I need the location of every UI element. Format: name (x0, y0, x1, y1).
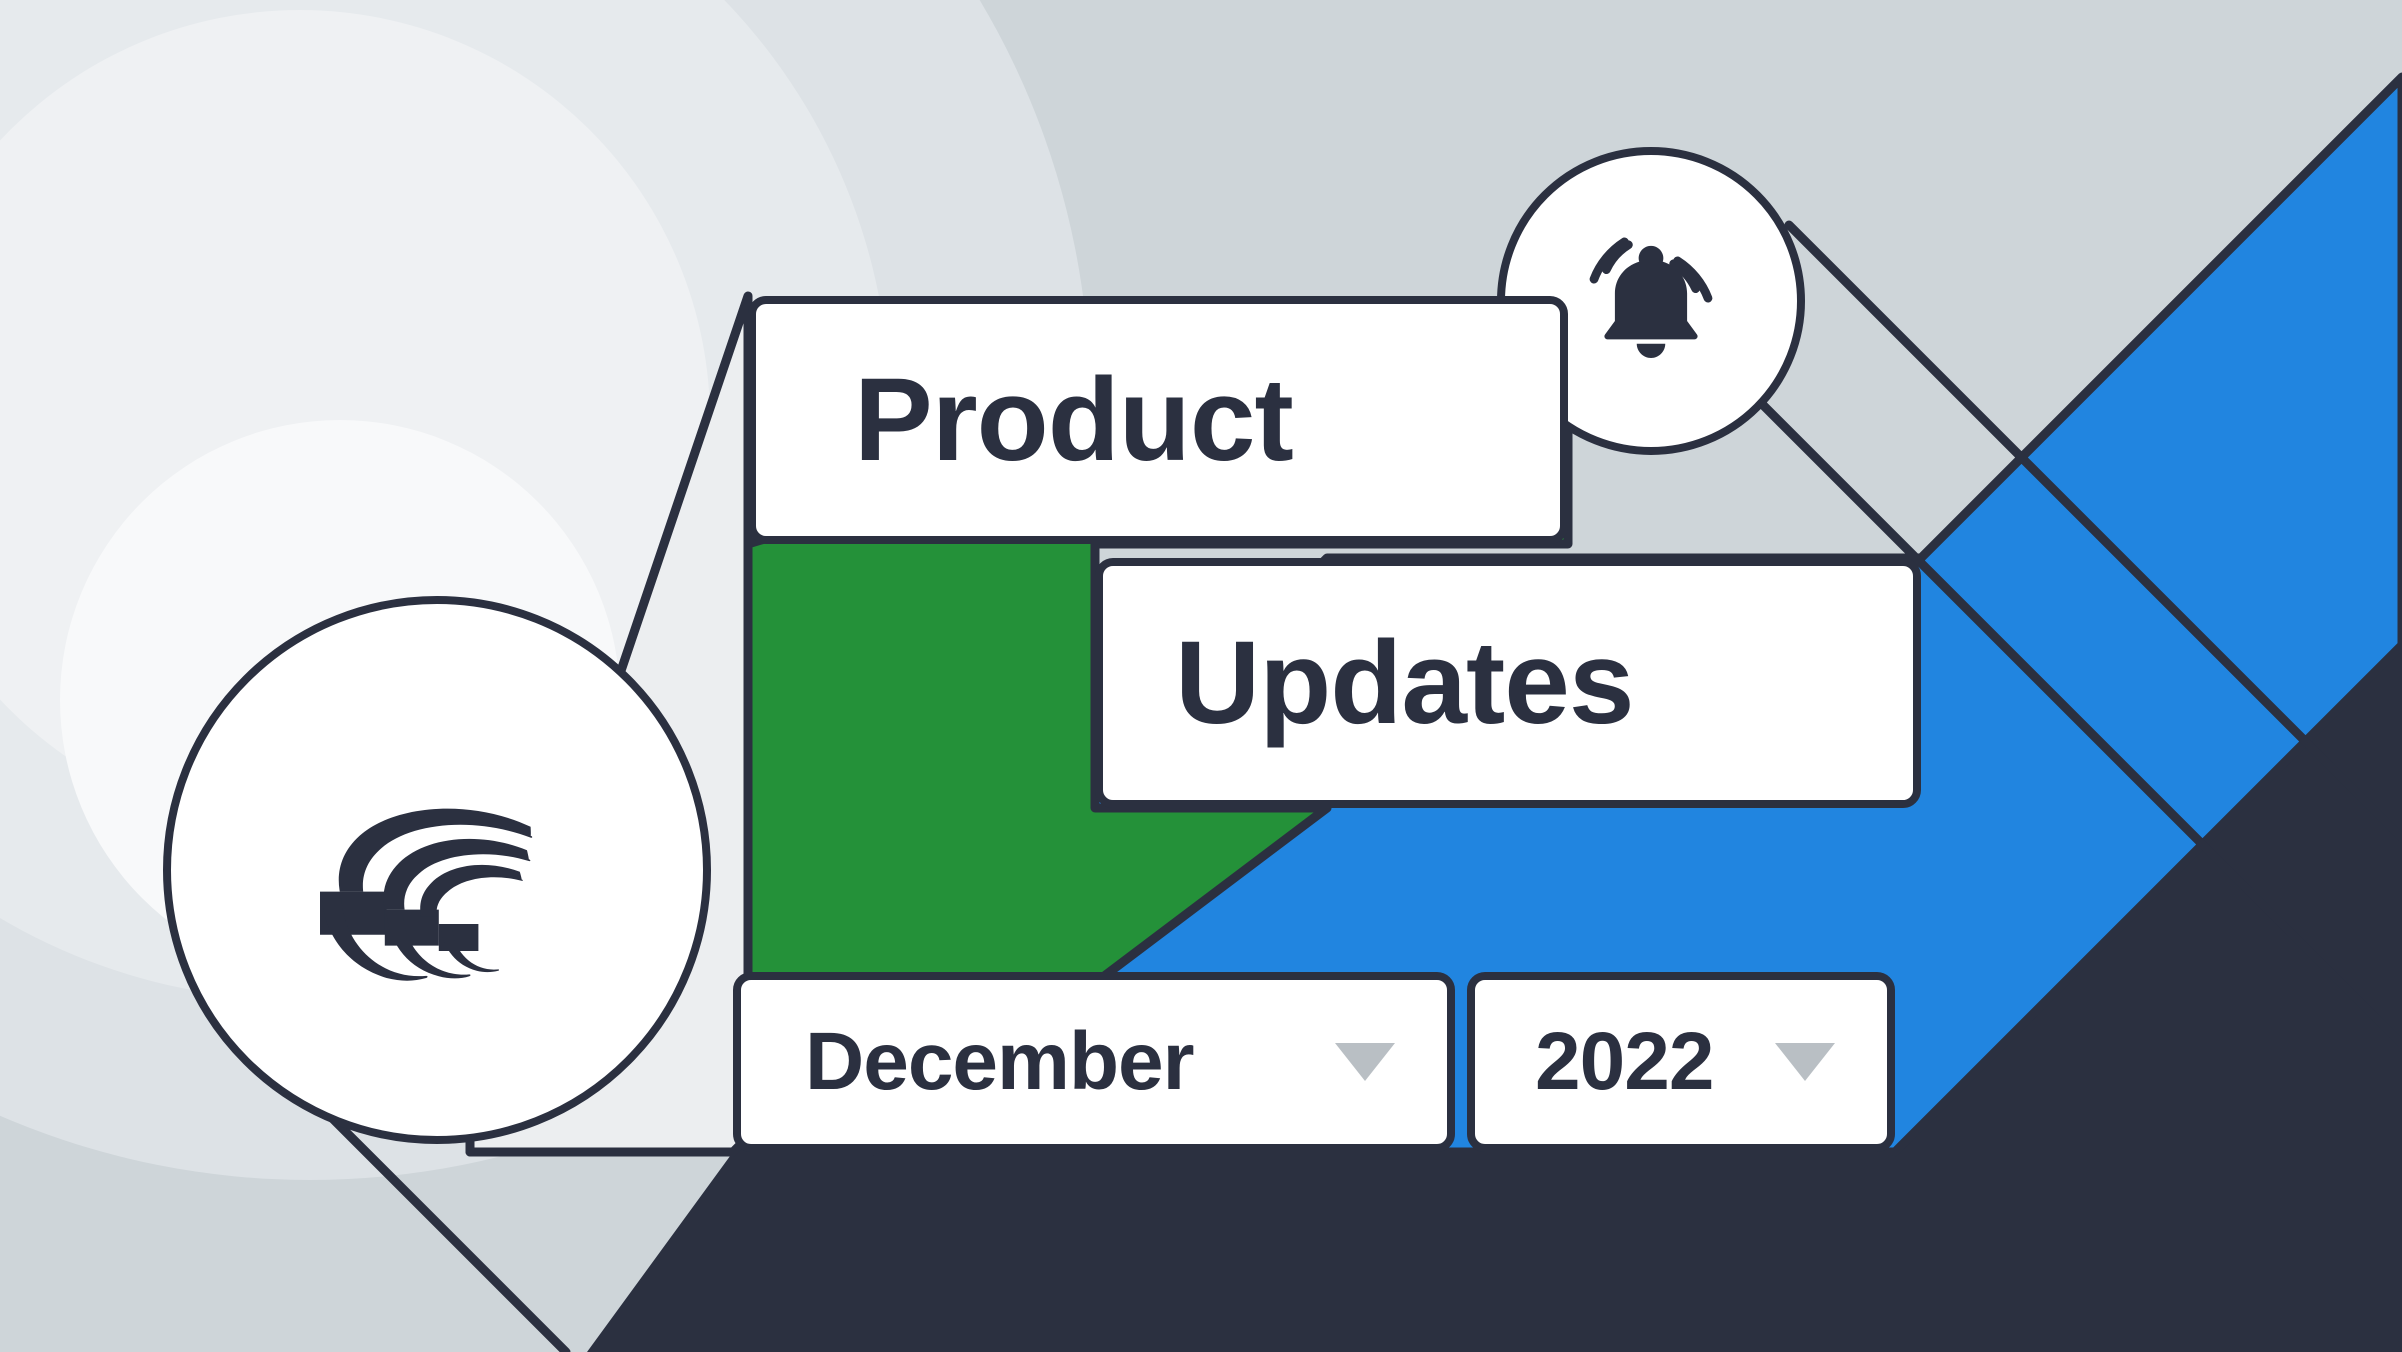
cloudways-logo-icon (257, 690, 617, 1050)
year-dropdown[interactable]: 2022 (1467, 972, 1895, 1152)
title-card-product: Product (748, 296, 1568, 544)
title-line-2: Updates (1103, 624, 1634, 742)
bell-icon (1556, 206, 1746, 396)
product-updates-banner: Product Updates December 2022 (0, 0, 2402, 1352)
month-value: December (741, 1021, 1194, 1103)
logo-badge (163, 596, 711, 1144)
year-value: 2022 (1475, 1021, 1713, 1103)
title-card-updates: Updates (1095, 558, 1921, 808)
month-dropdown[interactable]: December (733, 972, 1455, 1152)
chevron-down-icon[interactable] (1335, 1043, 1395, 1081)
title-line-1: Product (756, 361, 1293, 479)
chevron-down-icon[interactable] (1775, 1043, 1835, 1081)
